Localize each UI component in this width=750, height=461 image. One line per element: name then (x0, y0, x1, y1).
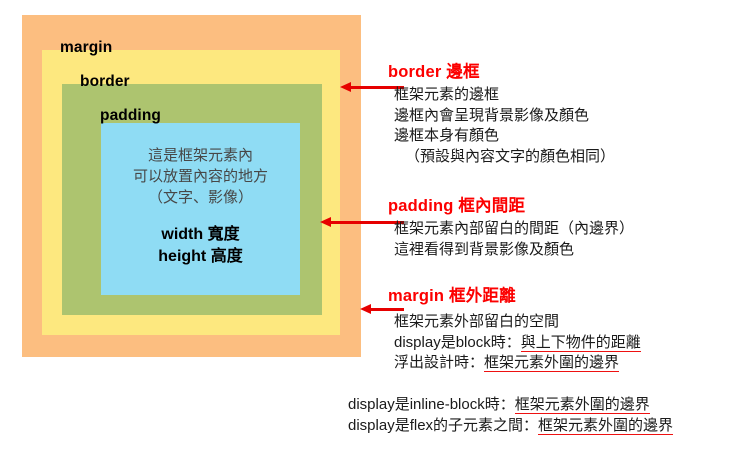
margin-body-line-2: display是block時：與上下物件的距離 (394, 333, 641, 354)
border-annotation-heading: border 邊框 (388, 58, 480, 82)
border-annotation-body: 框架元素的邊框 邊框內會呈現背景影像及顏色 邊框本身有顏色 （預設與內容文字的顏… (394, 85, 615, 167)
content-width-line: width 寬度 (101, 224, 300, 246)
margin-extra-line-1-prefix: display是inline-block時： (348, 396, 515, 413)
margin-body-line-3-underlined: 框架元素外圍的邊界 (484, 354, 619, 372)
padding-body-line-1: 框架元素內部留白的間距（內邊界） (394, 219, 634, 240)
content-description-text: 這是框架元素內 可以放置內容的地方 （文字、影像） (101, 145, 300, 208)
border-body-line-2: 邊框內會呈現背景影像及顏色 (394, 106, 615, 127)
margin-extra-line-2-underlined: 框架元素外圍的邊界 (538, 417, 673, 435)
margin-extra-line-1: display是inline-block時：框架元素外圍的邊界 (348, 395, 673, 416)
border-body-line-1: 框架元素的邊框 (394, 85, 615, 106)
margin-extra-line-2: display是flex的子元素之間：框架元素外圍的邊界 (348, 416, 673, 437)
margin-annotation-heading: margin 框外距離 (388, 282, 516, 306)
padding-label: padding (100, 107, 161, 125)
border-label: border (80, 73, 130, 91)
margin-body-line-2-underlined: 與上下物件的距離 (521, 334, 641, 352)
margin-annotation-extra: display是inline-block時：框架元素外圍的邊界 display是… (348, 395, 673, 436)
padding-annotation-heading: padding 框內間距 (388, 192, 525, 216)
margin-body-line-3: 浮出設計時：框架元素外圍的邊界 (394, 353, 641, 374)
margin-body-line-1: 框架元素外部留白的空間 (394, 312, 641, 333)
border-body-line-3: 邊框本身有顏色 (394, 126, 615, 147)
content-desc-line-3: （文字、影像） (101, 187, 300, 208)
content-dimension-text: width 寬度 height 高度 (101, 224, 300, 268)
content-desc-line-2: 可以放置內容的地方 (101, 166, 300, 187)
margin-body-line-2-prefix: display是block時： (394, 334, 521, 351)
margin-annotation-body: 框架元素外部留白的空間 display是block時：與上下物件的距離 浮出設計… (394, 312, 641, 374)
margin-extra-line-1-underlined: 框架元素外圍的邊界 (515, 396, 650, 414)
content-desc-line-1: 這是框架元素內 (101, 145, 300, 166)
margin-extra-line-2-prefix: display是flex的子元素之間： (348, 417, 538, 434)
content-box-layer: 這是框架元素內 可以放置內容的地方 （文字、影像） width 寬度 heigh… (101, 123, 300, 295)
content-height-line: height 高度 (101, 246, 300, 268)
padding-body-line-2: 這裡看得到背景影像及顏色 (394, 240, 634, 261)
annotations-panel: border 邊框 框架元素的邊框 邊框內會呈現背景影像及顏色 邊框本身有顏色 … (388, 0, 750, 461)
box-model-diagram: 這是框架元素內 可以放置內容的地方 （文字、影像） width 寬度 heigh… (22, 15, 361, 357)
margin-label: margin (60, 39, 112, 57)
padding-annotation-body: 框架元素內部留白的間距（內邊界） 這裡看得到背景影像及顏色 (394, 219, 634, 260)
border-body-line-4: （預設與內容文字的顏色相同） (394, 147, 615, 168)
margin-body-line-3-prefix: 浮出設計時： (394, 354, 484, 371)
